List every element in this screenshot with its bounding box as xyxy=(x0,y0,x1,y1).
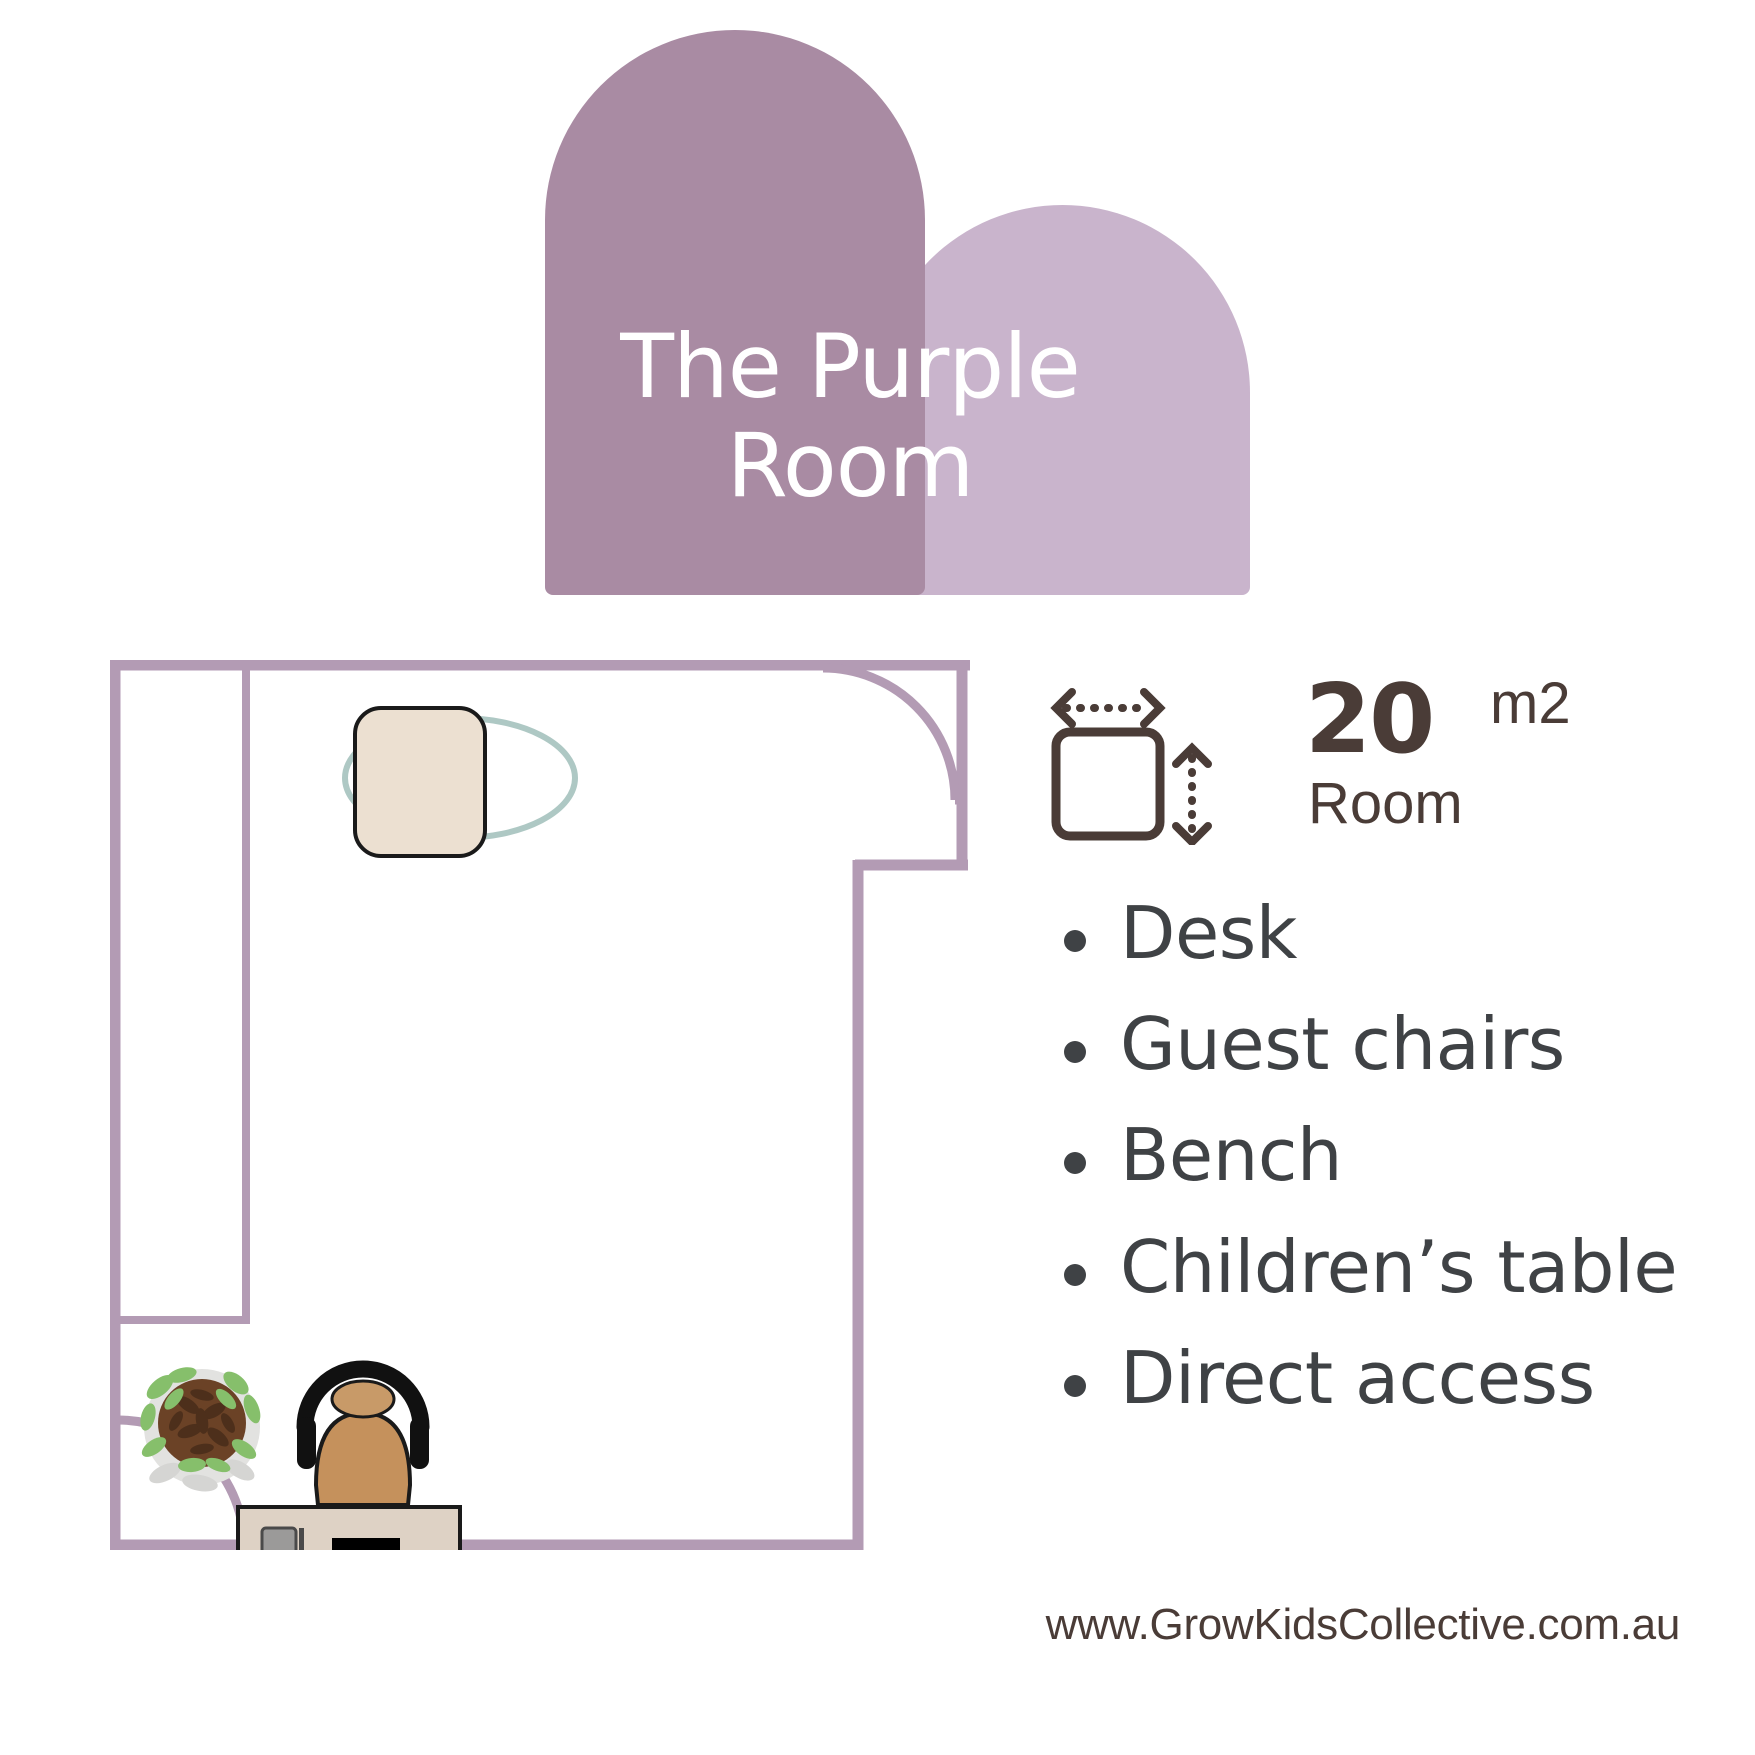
bullet-icon xyxy=(1064,1041,1086,1063)
list-item: Bench xyxy=(1020,1104,1720,1206)
feature-label: Desk xyxy=(1120,891,1297,975)
area-unit: m2 xyxy=(1490,670,1571,737)
bullet-icon xyxy=(1064,930,1086,952)
page-title: The Purple Room xyxy=(470,318,1230,515)
room-dimensions-icon xyxy=(1050,670,1225,845)
childrens-table-group xyxy=(345,708,575,856)
bullet-icon xyxy=(1064,1152,1086,1174)
person-with-headphones-group xyxy=(297,1369,429,1505)
list-item: Desk xyxy=(1020,882,1720,984)
list-item: Children’s table xyxy=(1020,1216,1720,1318)
bullet-icon xyxy=(1064,1264,1086,1286)
floor-plan xyxy=(110,660,970,1550)
bullet-icon xyxy=(1064,1375,1086,1397)
feature-list: Desk Guest chairs Bench Children’s table… xyxy=(1020,882,1720,1438)
list-item: Direct access xyxy=(1020,1327,1720,1429)
monitor-icon xyxy=(332,1538,400,1550)
feature-label: Direct access xyxy=(1120,1336,1595,1420)
room-details-panel: 20 m2 Room Desk Guest chairs Bench Child… xyxy=(1020,660,1720,1660)
list-item: Guest chairs xyxy=(1020,993,1720,1095)
feature-label: Guest chairs xyxy=(1120,1002,1565,1086)
feature-label: Bench xyxy=(1120,1113,1342,1197)
floor-plan-svg xyxy=(110,660,970,1550)
area-summary-row: 20 m2 Room xyxy=(1050,660,1710,860)
door-swing-arc-top-right xyxy=(823,668,963,800)
area-value: 20 xyxy=(1305,665,1433,775)
left-alcove-wall xyxy=(118,668,250,1322)
feature-label: Children’s table xyxy=(1120,1225,1677,1309)
potted-plant-group xyxy=(138,1364,264,1494)
header-arch-group: The Purple Room xyxy=(0,0,1755,600)
area-label: Room xyxy=(1308,770,1463,837)
website-url[interactable]: www.GrowKidsCollective.com.au xyxy=(1020,1600,1680,1650)
